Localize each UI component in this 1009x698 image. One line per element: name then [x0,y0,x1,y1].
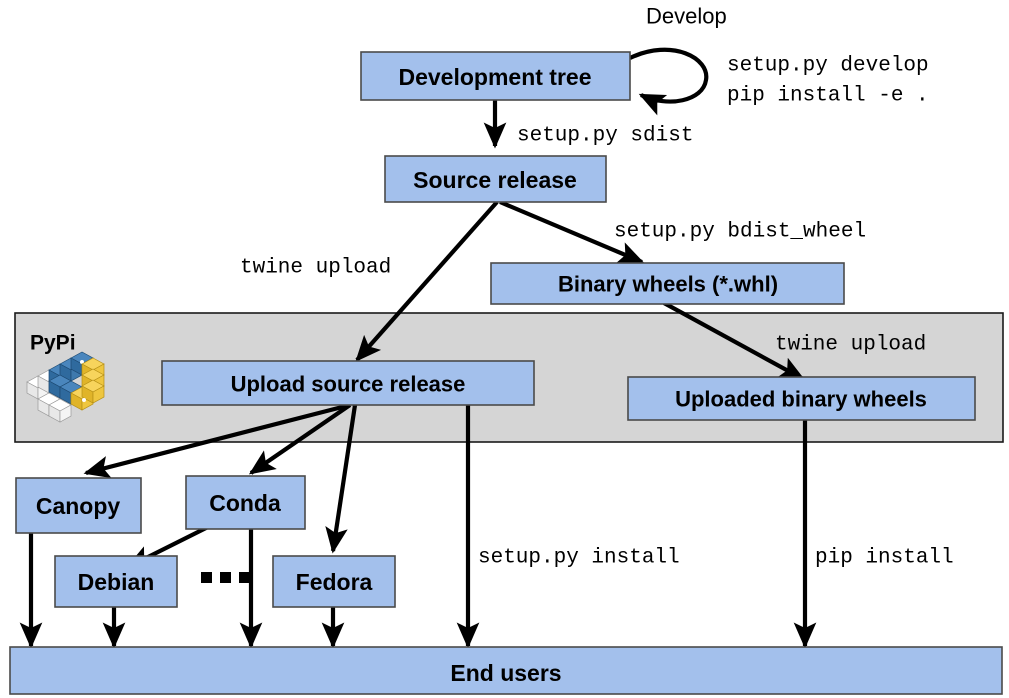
label-twine-upload-wheels: twine upload [775,334,926,357]
uploaded-binary-wheels-label: Uploaded binary wheels [675,387,927,412]
node-binary-wheels[interactable]: Binary wheels (*.whl) [491,263,844,304]
label-setup-py-install: setup.py install [478,547,680,570]
label-setup-py-bdist-wheel: setup.py bdist_wheel [614,221,866,244]
node-fedora[interactable]: Fedora [273,556,395,607]
ellipsis-indicator [201,572,250,583]
label-develop: Develop [646,4,727,29]
development-tree-label: Development tree [398,64,591,90]
label-setup-py-sdist: setup.py sdist [517,125,693,148]
debian-label: Debian [78,569,155,595]
node-development-tree[interactable]: Development tree [361,52,630,100]
node-upload-source-release[interactable]: Upload source release [162,361,534,405]
binary-wheels-label: Binary wheels (*.whl) [558,272,778,297]
node-source-release[interactable]: Source release [385,156,606,202]
pypi-group-title: PyPi [30,332,76,355]
label-pip-install: pip install [815,547,954,570]
node-canopy[interactable]: Canopy [16,478,141,533]
node-conda[interactable]: Conda [186,476,305,529]
node-uploaded-binary-wheels[interactable]: Uploaded binary wheels [628,377,975,420]
label-pip-install-editable: pip install -e . [727,85,929,108]
canopy-label: Canopy [36,493,121,519]
upload-source-release-label: Upload source release [231,372,466,397]
flow-canvas: PyPi [0,0,1009,698]
node-debian[interactable]: Debian [55,556,177,607]
edge-develop-selfloop [630,50,706,102]
conda-label: Conda [209,490,281,516]
node-end-users[interactable]: End users [10,647,1002,694]
packaging-flow-diagram: PyPi [0,0,1009,698]
source-release-label: Source release [413,167,577,193]
fedora-label: Fedora [296,569,373,595]
end-users-label: End users [450,660,561,686]
label-setup-py-develop: setup.py develop [727,55,929,78]
label-twine-upload-source: twine upload [240,257,391,280]
